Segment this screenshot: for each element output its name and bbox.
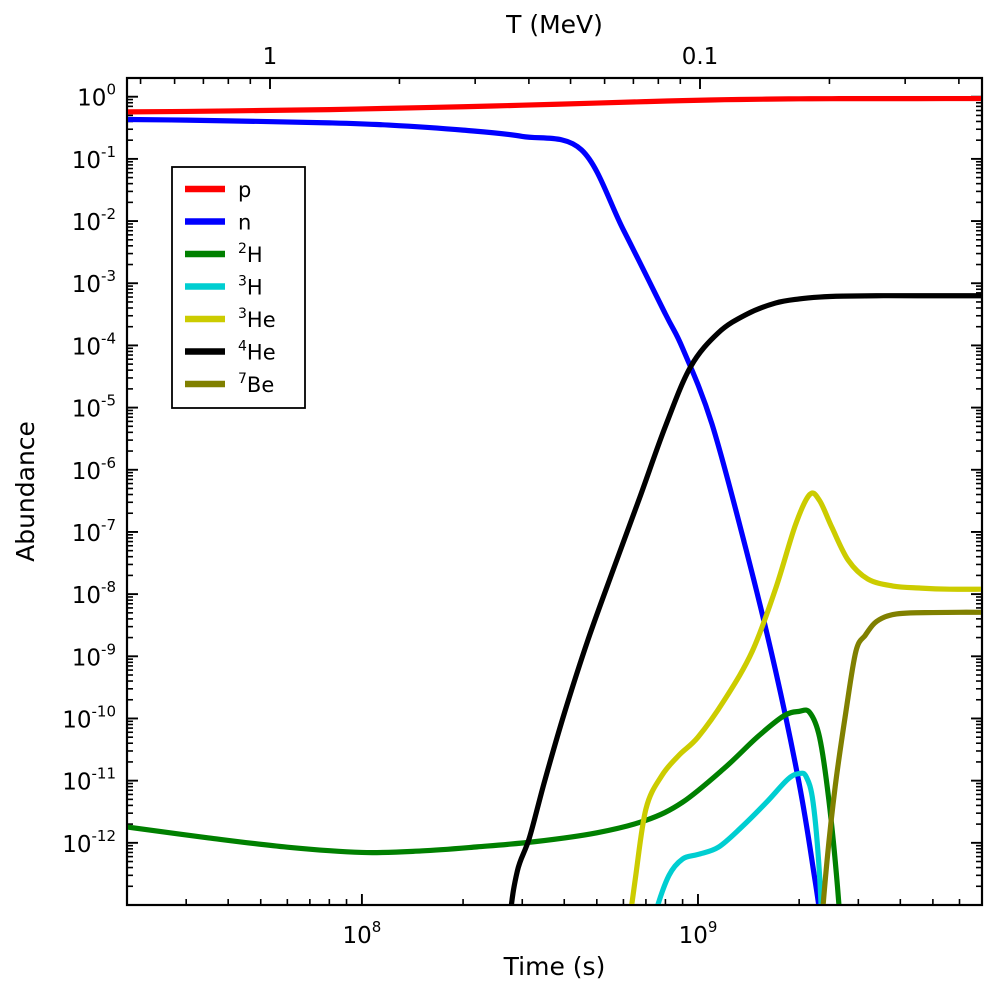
y-tick-label: 10-10 [62,702,116,733]
y-tick-label: 10-2 [72,205,116,236]
y-tick-exponent: -1 [101,143,116,161]
y-tick-exponent: -4 [101,329,116,347]
y-tick-label: 10-12 [62,827,116,858]
axis-labels-group: 10010-110-210-310-410-510-610-710-810-91… [11,10,718,981]
y-tick-exponent: -12 [92,827,117,845]
y-tick-label: 10-8 [72,578,116,609]
legend-label-main: H [247,243,263,267]
y-tick-label: 10-9 [72,640,116,671]
legend-label-n: n [238,211,251,235]
legend-label-main: Be [247,373,274,397]
legend-label-main: He [247,308,276,332]
legend-superscript: 2 [238,241,247,257]
figure-canvas: 10010-110-210-310-410-510-610-710-810-91… [0,0,1000,1000]
x-tick-exponent: 9 [708,918,718,936]
legend-superscript: 4 [238,339,247,355]
x-tick-label: 109 [679,918,718,949]
y-tick-label: 10-7 [72,516,116,547]
legend-superscript: 3 [238,306,247,322]
y-tick-exponent: -2 [101,205,116,223]
y-axis-title: Abundance [11,421,40,562]
y-tick-exponent: -5 [101,392,116,410]
y-tick-exponent: 0 [106,81,116,99]
curve-p [127,99,982,112]
y-tick-exponent: -3 [101,267,116,285]
legend-superscript: 7 [238,371,247,387]
top-tick-label: 1 [263,44,278,70]
y-tick-exponent: -11 [92,765,117,783]
y-tick-exponent: -10 [92,702,117,720]
y-tick-exponent: -9 [101,640,116,658]
y-tick-label: 10-3 [72,267,116,298]
x-axis-title: Time (s) [503,952,606,981]
curve-3H [642,773,825,986]
curve-4He [504,296,982,1000]
y-tick-label: 10-4 [72,329,116,360]
curve-7Be [817,612,982,1000]
y-tick-label: 10-1 [72,143,116,174]
y-tick-label: 100 [77,81,116,112]
y-tick-exponent: -8 [101,578,116,596]
x-tick-exponent: 8 [372,918,382,936]
legend-label-main: He [247,341,276,365]
y-tick-label: 10-5 [72,392,116,423]
legend: pn2H3H3He4He7Be [172,167,305,408]
abundance-vs-time-plot: 10010-110-210-310-410-510-610-710-810-91… [0,0,1000,1000]
y-tick-exponent: -6 [101,454,116,472]
curve-3He [623,493,982,967]
top-tick-label: 0.1 [682,44,719,70]
legend-label-main: H [247,276,263,300]
x-tick-label: 108 [342,918,381,949]
y-tick-exponent: -7 [101,516,116,534]
y-tick-label: 10-6 [72,454,116,485]
y-tick-label: 10-11 [62,765,116,796]
curve-2H [127,710,846,1000]
legend-label-p: p [238,178,251,202]
legend-superscript: 3 [238,274,247,290]
top-axis-title: T (MeV) [505,10,603,39]
